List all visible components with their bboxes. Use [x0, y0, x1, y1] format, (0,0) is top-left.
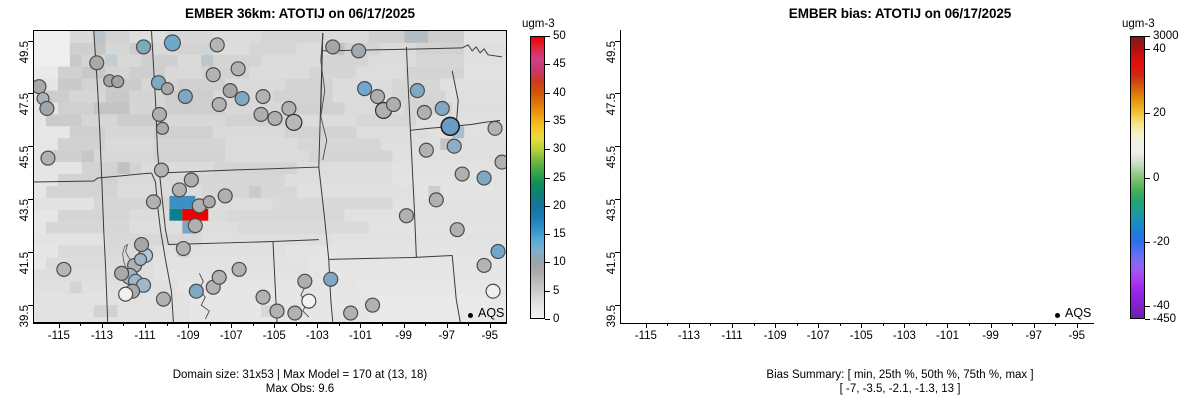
x-tick — [145, 323, 146, 328]
x-tick — [646, 323, 647, 328]
x-tick — [274, 323, 275, 328]
aqs-legend-bias: AQS — [1057, 306, 1091, 320]
x-tick-label: -99 — [982, 330, 999, 342]
x-tick-label: -107 — [220, 330, 243, 342]
colorbar-tick-label: 30 — [553, 143, 566, 155]
x-tick-label: -109 — [764, 330, 787, 342]
x-tick-label: -109 — [177, 330, 200, 342]
colorbar-tick-label: 40 — [1153, 43, 1166, 55]
y-axis-model: 39.541.543.545.547.549.5 — [27, 30, 57, 323]
y-tick-label: 41.5 — [19, 252, 31, 274]
x-tick-label: -101 — [936, 330, 959, 342]
x-tick-minor — [667, 323, 668, 326]
colorbar-tick-label: 35 — [553, 115, 566, 127]
x-tick-minor — [969, 323, 970, 326]
y-tick-label: 45.5 — [19, 146, 31, 168]
x-tick-minor — [210, 323, 211, 326]
panel-title-bias: EMBER bias: ATOTIJ on 06/17/2025 — [600, 6, 1200, 21]
x-tick — [689, 323, 690, 328]
x-tick-label: -103 — [306, 330, 329, 342]
y-tick-label: 39.5 — [19, 305, 31, 327]
x-tick — [490, 323, 491, 328]
y-tick-label: 49.5 — [606, 41, 618, 63]
x-tick-minor — [339, 323, 340, 326]
aqs-marker-icon — [1055, 313, 1060, 318]
x-tick — [732, 323, 733, 328]
colorbar-gradient-bias — [1130, 36, 1145, 319]
colorbar-tick — [1145, 178, 1150, 179]
y-tick-label: 39.5 — [606, 305, 618, 327]
panel-model: EMBER 36km: ATOTIJ on 06/17/2025 — [0, 0, 600, 409]
model-raster-cells — [34, 31, 506, 322]
y-tick-label: 43.5 — [606, 199, 618, 221]
x-tick — [188, 323, 189, 328]
x-tick-label: -95 — [1068, 330, 1085, 342]
x-tick-minor — [123, 323, 124, 326]
x-tick-label: -115 — [48, 330, 70, 342]
colorbar-tick — [545, 178, 550, 179]
x-tick-minor — [926, 323, 927, 326]
x-tick-label: -111 — [134, 330, 155, 342]
colorbar-gradient-model — [530, 36, 545, 319]
colorbar-tick — [1145, 49, 1150, 50]
y-tick-label: 41.5 — [606, 252, 618, 274]
colorbar-tick — [545, 64, 550, 65]
x-tick-minor — [797, 323, 798, 326]
x-tick — [447, 323, 448, 328]
colorbar-tick-label: 25 — [553, 172, 566, 184]
x-tick — [861, 323, 862, 328]
colorbar-tick — [545, 206, 550, 207]
x-tick-label: -97 — [1025, 330, 1042, 342]
colorbar-tick-label: 10 — [553, 256, 566, 268]
x-tick-minor — [468, 323, 469, 326]
x-tick — [59, 323, 60, 328]
x-tick-minor — [754, 323, 755, 326]
colorbar-tick — [1145, 242, 1150, 243]
y-axis-line — [33, 30, 34, 323]
colorbar-tick-label: -40 — [1153, 300, 1170, 312]
colorbar-tick-label: -20 — [1153, 236, 1170, 248]
x-tick-label: -103 — [893, 330, 916, 342]
x-tick — [1034, 323, 1035, 328]
x-tick — [904, 323, 905, 328]
panel-title-model: EMBER 36km: ATOTIJ on 06/17/2025 — [0, 6, 600, 21]
colorbar-tick — [1145, 319, 1150, 320]
x-tick-minor — [710, 323, 711, 326]
colorbar-tick — [545, 319, 550, 320]
colorbar-tick — [545, 234, 550, 235]
colorbar-tick — [545, 36, 550, 37]
x-tick-minor — [253, 323, 254, 326]
caption-line2-model: Max Obs: 9.6 — [0, 382, 600, 396]
x-tick-label: -101 — [349, 330, 372, 342]
x-tick-minor — [382, 323, 383, 326]
map-plot-model[interactable] — [33, 30, 507, 323]
y-tick-label: 43.5 — [19, 199, 31, 221]
x-tick-label: -111 — [721, 330, 742, 342]
colorbar-tick — [545, 93, 550, 94]
x-tick-minor — [425, 323, 426, 326]
colorbar-tick-label: 40 — [553, 87, 566, 99]
x-tick-minor — [1012, 323, 1013, 326]
x-tick-minor — [1055, 323, 1056, 326]
x-tick — [775, 323, 776, 328]
colorbar-tick — [1145, 306, 1150, 307]
colorbar-tick-label: 0 — [1153, 172, 1159, 184]
caption-line1-bias: Bias Summary: [ min, 25th %, 50th %, 75t… — [600, 368, 1200, 382]
x-tick-label: -107 — [807, 330, 830, 342]
aqs-legend-model: AQS — [470, 306, 504, 320]
caption-line1-model: Domain size: 31x53 | Max Model = 170 at … — [0, 368, 600, 382]
colorbar-tick — [545, 149, 550, 150]
x-tick — [1077, 323, 1078, 328]
x-axis-model: -115-113-111-109-107-105-103-101-99-97-9… — [33, 323, 507, 347]
y-tick-label: 47.5 — [606, 93, 618, 115]
x-tick-minor — [840, 323, 841, 326]
y-tick-label: 47.5 — [19, 93, 31, 115]
colorbar-tick-label: 20 — [553, 200, 566, 212]
colorbar-tick — [1145, 36, 1150, 37]
colorbar-unit-bias: ugm-3 — [1122, 18, 1155, 30]
x-tick-minor — [883, 323, 884, 326]
panel-bias: EMBER bias: ATOTIJ on 06/17/2025 — [600, 0, 1200, 409]
x-tick-minor — [80, 323, 81, 326]
y-axis-bias: 39.541.543.545.547.549.5 — [614, 30, 644, 323]
colorbar-tick-label: -450 — [1153, 313, 1176, 325]
figure-root: EMBER 36km: ATOTIJ on 06/17/2025 — [0, 0, 1200, 409]
x-tick-label: -105 — [850, 330, 873, 342]
colorbar-tick-label: 20 — [1153, 107, 1166, 119]
colorbar-tick-label: 45 — [553, 58, 566, 70]
colorbar-tick — [545, 121, 550, 122]
x-tick — [818, 323, 819, 328]
x-tick — [317, 323, 318, 328]
colorbar-tick — [545, 291, 550, 292]
colorbar-tick-label: 5 — [553, 285, 559, 297]
x-tick-minor — [296, 323, 297, 326]
x-tick — [404, 323, 405, 328]
colorbar-tick — [545, 262, 550, 263]
model-map-svg — [34, 31, 506, 322]
colorbar-tick — [1145, 113, 1150, 114]
colorbar-tick-label: 3000 — [1153, 30, 1179, 42]
x-tick-label: -97 — [438, 330, 455, 342]
aqs-marker-icon — [468, 313, 473, 318]
x-tick-label: -113 — [678, 330, 700, 342]
x-tick-label: -105 — [263, 330, 286, 342]
caption-line2-bias: [ -7, -3.5, -2.1, -1.3, 13 ] — [600, 382, 1200, 396]
x-tick-label: -113 — [91, 330, 113, 342]
colorbar-tick-label: 0 — [553, 313, 559, 325]
colorbar-tick-label: 15 — [553, 228, 566, 240]
colorbar-bias: ugm-3 -450-40-20020403000 — [1130, 0, 1200, 409]
y-tick-label: 45.5 — [606, 146, 618, 168]
x-axis-bias: -115-113-111-109-107-105-103-101-99-97-9… — [620, 323, 1094, 347]
x-tick — [231, 323, 232, 328]
colorbar-unit-model: ugm-3 — [522, 18, 555, 30]
x-tick — [360, 323, 361, 328]
x-axis-line — [620, 323, 1094, 324]
colorbar-tick-label: 50 — [553, 30, 566, 42]
x-tick-label: -99 — [395, 330, 412, 342]
x-tick-label: -115 — [635, 330, 657, 342]
x-tick — [102, 323, 103, 328]
x-tick — [991, 323, 992, 328]
y-tick-label: 49.5 — [19, 41, 31, 63]
x-tick-label: -95 — [481, 330, 498, 342]
aqs-legend-label: AQS — [1065, 306, 1091, 320]
x-tick — [947, 323, 948, 328]
x-tick-minor — [167, 323, 168, 326]
y-axis-line — [620, 30, 621, 323]
aqs-legend-label: AQS — [478, 306, 504, 320]
x-axis-line — [33, 323, 507, 324]
